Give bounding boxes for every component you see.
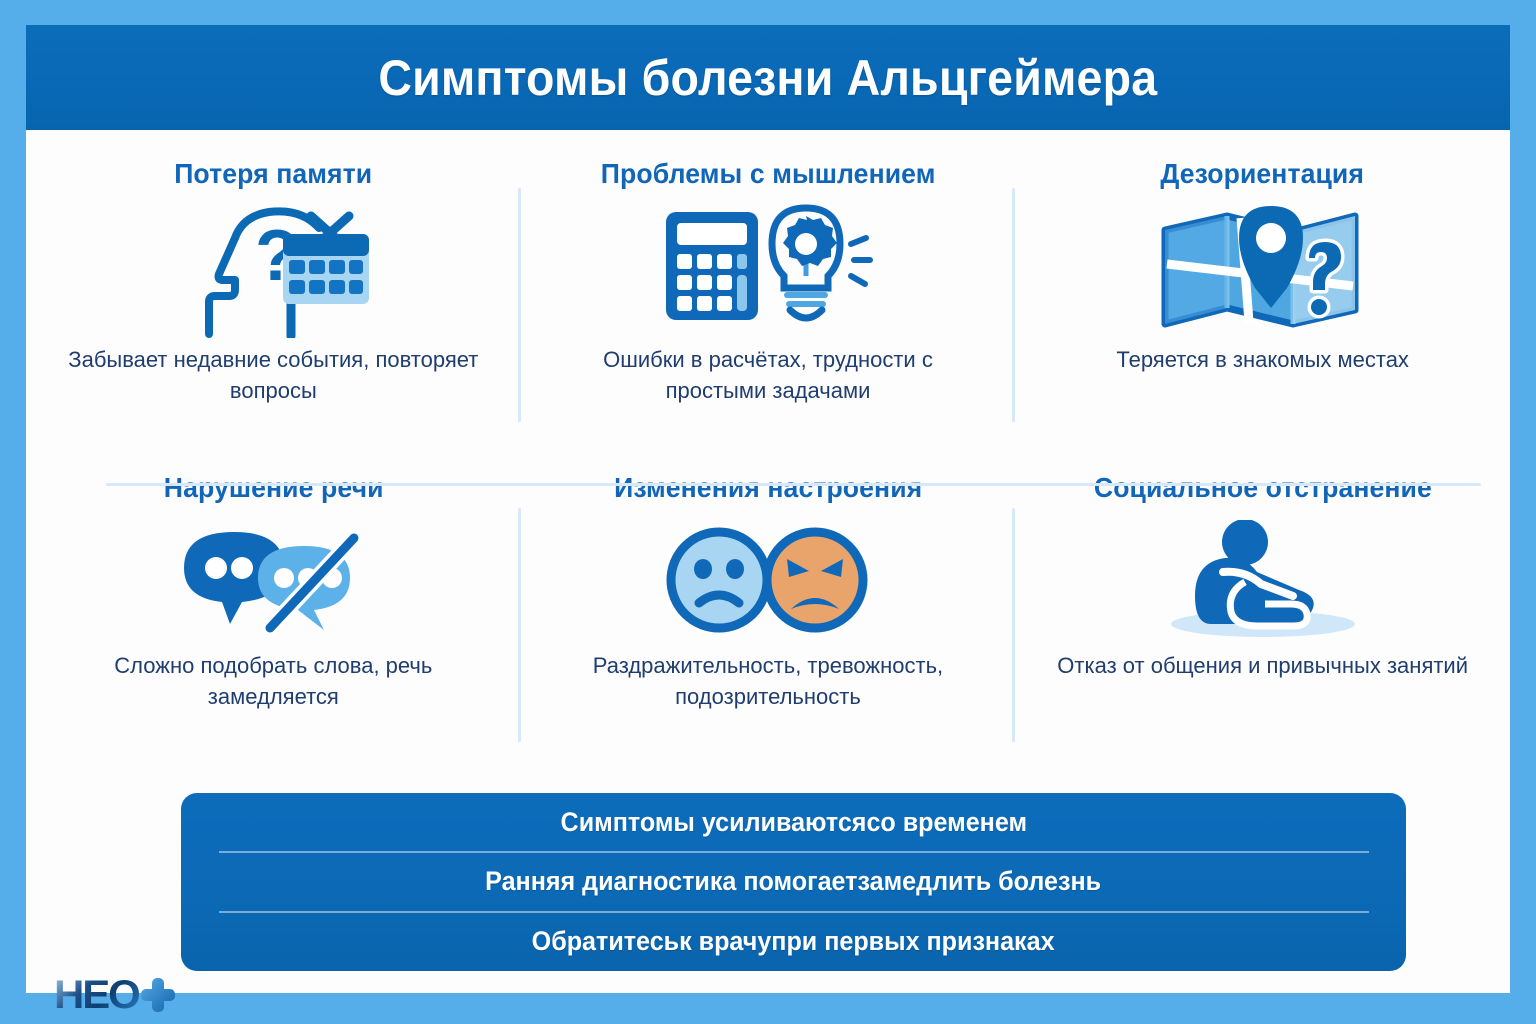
speech-bubbles-slash-icon [168,516,378,644]
card-title: Нарушение речи [163,472,383,504]
infographic-sheet: Симптомы болезни Альцгеймера Потеря памя… [26,25,1510,993]
symptom-card-disorientation: Дезориентация Т [1015,130,1510,450]
summary-line-3-plain-a: Обратитесь [532,926,679,957]
card-title: Дезориентация [1161,158,1365,190]
head-question-calendar-icon: ? [173,198,373,338]
summary-line-1: Симптомы усиливаются со временем [560,793,1026,851]
card-title: Потеря памяти [174,158,372,190]
page-title: Симптомы болезни Альцгеймера [379,49,1158,107]
symptom-card-speech-impairment: Нарушение речи Сложно подобрать слова, р… [26,450,521,770]
row-divider [106,483,1481,486]
card-title: Проблемы с мышлением [601,158,936,190]
summary-line-1-plain: Симптомы усиливаются [560,807,866,838]
logo-wordmark: НЕО [54,975,139,1015]
map-pin-question-icon [1153,198,1373,338]
card-description: Сложно подобрать слова, речь замедляется [58,650,488,712]
symptom-card-thinking-problems: Проблемы с мышлением [521,130,1016,450]
summary-line-2-bold: замедлить болезнь [858,866,1102,897]
logo-plus-icon [141,978,175,1012]
summary-line-3-plain-b: при первых признаках [772,926,1055,957]
summary-line-2: Ранняя диагностика помогает замедлить бо… [486,853,1102,911]
summary-line-3-bold: к врачу [679,926,771,957]
header-bar: Симптомы болезни Альцгеймера [26,25,1510,130]
symptom-card-mood-changes: Изменения настроения Раздражительность, … [521,450,1016,770]
card-description: Ошибки в расчётах, трудности с простыми … [553,344,983,406]
summary-line-1-bold: со временем [866,807,1027,838]
card-description: Отказ от общения и привычных занятий [1057,650,1468,681]
card-title: Социальное отстранение [1094,472,1432,504]
card-description: Забывает недавние события, повторяет воп… [58,344,488,406]
summary-panel: Симптомы усиливаются со временем Ранняя … [181,793,1406,971]
card-title: Изменения настроения [614,472,922,504]
card-description: Теряется в знакомых местах [1116,344,1409,375]
calculator-lightbulb-icon [658,198,878,338]
sitting-person-icon [1153,516,1373,644]
summary-line-2-plain: Ранняя диагностика помогает [486,866,858,897]
symptom-grid: Потеря памяти ? [26,130,1510,770]
summary-line-3: Обратитесь к врачу при первых признаках [532,913,1055,971]
card-description: Раздражительность, тревожность, подозрит… [553,650,983,712]
symptom-card-memory-loss: Потеря памяти ? [26,130,521,450]
symptom-card-social-withdrawal: Социальное отстранение Отказ от общения … [1015,450,1510,770]
sad-angry-faces-icon [663,516,873,644]
brand-logo: НЕО [56,975,175,1015]
